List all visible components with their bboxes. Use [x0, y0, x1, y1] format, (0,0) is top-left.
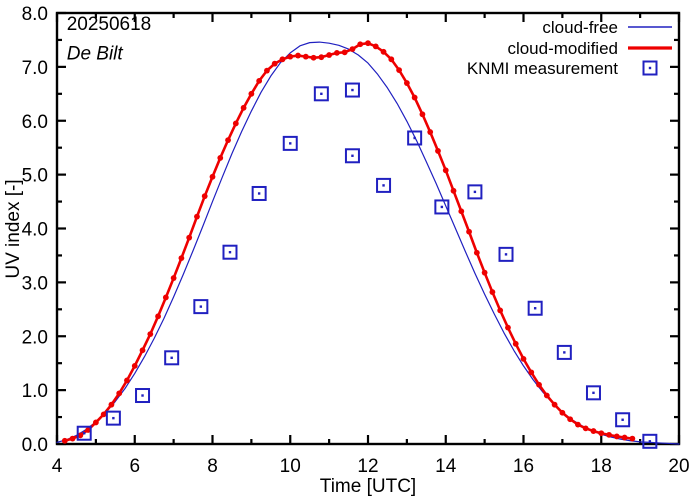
- measurement-marker-dot: [505, 253, 507, 255]
- y-tick-label: 4.0: [22, 220, 48, 241]
- data-point: [70, 436, 76, 442]
- data-point: [233, 121, 239, 127]
- measurement-marker-dot: [474, 191, 476, 193]
- date-annotation: 20250618: [67, 14, 152, 35]
- data-point: [357, 41, 363, 47]
- data-point: [256, 78, 262, 84]
- x-tick-label: 12: [357, 456, 378, 477]
- legend-label: cloud-free: [542, 18, 618, 37]
- data-point: [505, 325, 511, 331]
- data-point: [490, 289, 496, 295]
- x-axis-title: Time [UTC]: [320, 476, 416, 497]
- data-point: [606, 432, 612, 438]
- data-point: [458, 208, 464, 214]
- data-point: [552, 402, 558, 408]
- data-point: [202, 193, 208, 199]
- uv-index-chart: 0.01.02.03.04.05.06.07.08.0 468101214161…: [0, 0, 694, 501]
- data-point: [536, 382, 542, 388]
- data-point: [171, 275, 177, 281]
- data-point: [272, 61, 278, 67]
- data-point: [482, 270, 488, 276]
- data-point: [155, 313, 161, 319]
- data-point: [396, 67, 402, 73]
- data-point: [217, 155, 223, 161]
- measurement-marker-dot: [441, 206, 443, 208]
- data-point: [194, 214, 200, 220]
- data-point: [303, 54, 309, 60]
- measurement-marker-dot: [563, 351, 565, 353]
- station-annotation: De Bilt: [67, 43, 124, 64]
- data-point: [248, 91, 254, 97]
- data-point: [210, 174, 216, 180]
- data-point: [420, 111, 426, 117]
- data-point: [241, 105, 247, 111]
- measurement-marker-dot: [413, 137, 415, 139]
- x-tick-label: 20: [668, 456, 689, 477]
- data-point: [598, 430, 604, 436]
- measurement-marker-dot: [258, 192, 260, 194]
- data-point: [264, 68, 270, 74]
- data-point: [559, 410, 565, 416]
- data-point: [427, 129, 433, 135]
- data-point: [140, 347, 146, 353]
- data-point: [388, 56, 394, 62]
- data-point: [163, 295, 169, 301]
- measurement-marker-dot: [382, 184, 384, 186]
- y-tick-label: 7.0: [22, 58, 48, 79]
- data-point: [295, 53, 301, 59]
- data-point: [342, 49, 348, 55]
- data-point: [497, 307, 503, 313]
- data-point: [513, 341, 519, 347]
- y-tick-label: 8.0: [22, 4, 48, 25]
- y-tick-label: 5.0: [22, 166, 48, 187]
- x-tick-label: 16: [513, 456, 534, 477]
- legend-label: cloud-modified: [507, 39, 618, 58]
- y-axis-tick-labels: 0.01.02.03.04.05.06.07.08.0: [22, 4, 48, 456]
- data-point: [591, 428, 597, 434]
- x-tick-label: 18: [591, 456, 612, 477]
- data-point: [474, 250, 480, 256]
- data-point: [373, 44, 379, 50]
- data-point: [583, 425, 589, 431]
- measurement-marker-dot: [649, 440, 651, 442]
- measurement-marker-dot: [141, 394, 143, 396]
- y-tick-label: 1.0: [22, 381, 48, 402]
- data-point: [132, 363, 138, 369]
- data-point: [116, 390, 122, 396]
- data-point: [544, 393, 550, 399]
- data-point: [521, 356, 527, 362]
- chart-canvas: 0.01.02.03.04.05.06.07.08.0 468101214161…: [0, 0, 694, 501]
- data-point: [62, 438, 68, 444]
- measurement-marker-dot: [112, 417, 114, 419]
- data-point: [109, 402, 115, 408]
- data-point: [622, 435, 628, 441]
- y-tick-label: 2.0: [22, 327, 48, 348]
- x-tick-label: 10: [280, 456, 301, 477]
- data-point: [629, 436, 635, 442]
- measurement-marker-dot: [83, 432, 85, 434]
- y-tick-label: 6.0: [22, 112, 48, 133]
- measurement-marker-dot: [200, 305, 202, 307]
- data-point: [404, 80, 410, 86]
- data-point: [287, 54, 293, 60]
- data-point: [528, 369, 534, 375]
- x-tick-label: 14: [435, 456, 457, 477]
- data-point: [179, 255, 185, 261]
- data-point: [318, 54, 324, 60]
- measurement-marker-dot: [621, 419, 623, 421]
- measurement-marker-dot: [289, 142, 291, 144]
- legend-square-sample-dot: [649, 67, 651, 69]
- data-point: [147, 331, 153, 337]
- data-point: [124, 378, 130, 384]
- data-point: [435, 148, 441, 154]
- legend-label: KNMI measurement: [467, 59, 618, 78]
- measurement-marker-dot: [534, 307, 536, 309]
- measurement-marker-dot: [351, 155, 353, 157]
- data-point: [575, 422, 581, 428]
- measurement-marker-dot: [592, 392, 594, 394]
- data-point: [412, 95, 418, 101]
- data-point: [101, 411, 107, 417]
- data-point: [466, 229, 472, 235]
- data-point: [225, 137, 231, 143]
- data-point: [443, 167, 449, 173]
- data-point: [365, 40, 371, 46]
- data-point: [93, 420, 99, 426]
- measurement-marker-dot: [229, 251, 231, 253]
- data-point: [334, 50, 340, 56]
- data-point: [451, 188, 457, 194]
- data-point: [350, 46, 356, 52]
- data-point: [567, 416, 573, 422]
- data-point: [311, 55, 317, 61]
- data-point: [326, 52, 332, 58]
- measurement-marker-dot: [170, 357, 172, 359]
- x-tick-label: 6: [129, 456, 140, 477]
- y-axis-title: UV index [-]: [3, 179, 24, 278]
- y-tick-label: 3.0: [22, 273, 48, 294]
- data-point: [280, 56, 286, 62]
- measurement-marker-dot: [351, 89, 353, 91]
- data-point: [614, 434, 620, 440]
- x-tick-label: 8: [207, 456, 218, 477]
- y-tick-label: 0.0: [22, 435, 48, 456]
- data-point: [186, 235, 192, 241]
- data-point: [381, 49, 387, 55]
- measurement-marker-dot: [320, 93, 322, 95]
- x-tick-label: 4: [52, 456, 63, 477]
